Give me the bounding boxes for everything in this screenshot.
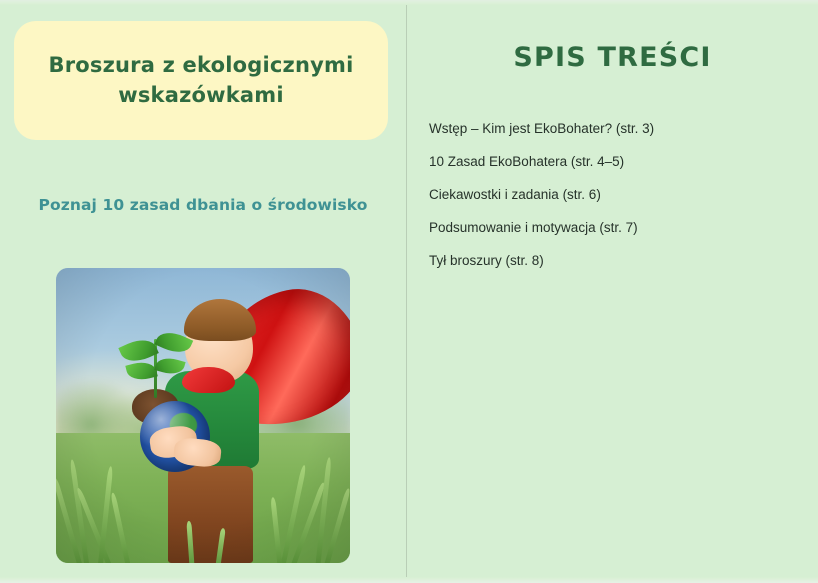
table-of-contents-list: Wstęp – Kim jest EkoBohater? (str. 3)10 … [429, 122, 799, 287]
brochure-subtitle: Poznaj 10 zasad dbania o środowisko [0, 196, 406, 214]
brochure-left-page: Broszura z ekologicznymi wskazówkami Poz… [0, 0, 406, 583]
brochure-right-page: SPIS TREŚCI Wstęp – Kim jest EkoBohater?… [407, 0, 818, 583]
page-fold-divider [406, 0, 407, 583]
toc-entry: Wstęp – Kim jest EkoBohater? (str. 3) [429, 122, 799, 136]
toc-entry: Podsumowanie i motywacja (str. 7) [429, 221, 799, 235]
photo-vignette [56, 268, 350, 563]
toc-entry: Tył broszury (str. 8) [429, 254, 799, 268]
top-edge-band [0, 0, 818, 5]
bottom-edge-band [0, 577, 818, 583]
table-of-contents-heading: SPIS TREŚCI [407, 42, 818, 73]
brochure-title: Broszura z ekologicznymi wskazówkami [40, 51, 362, 111]
brochure-spread: Broszura z ekologicznymi wskazówkami Poz… [0, 0, 818, 583]
toc-entry: Ciekawostki i zadania (str. 6) [429, 188, 799, 202]
boy-superhero-with-earth-photo [56, 268, 350, 563]
title-card: Broszura z ekologicznymi wskazówkami [14, 21, 388, 140]
toc-entry: 10 Zasad EkoBohatera (str. 4–5) [429, 155, 799, 169]
